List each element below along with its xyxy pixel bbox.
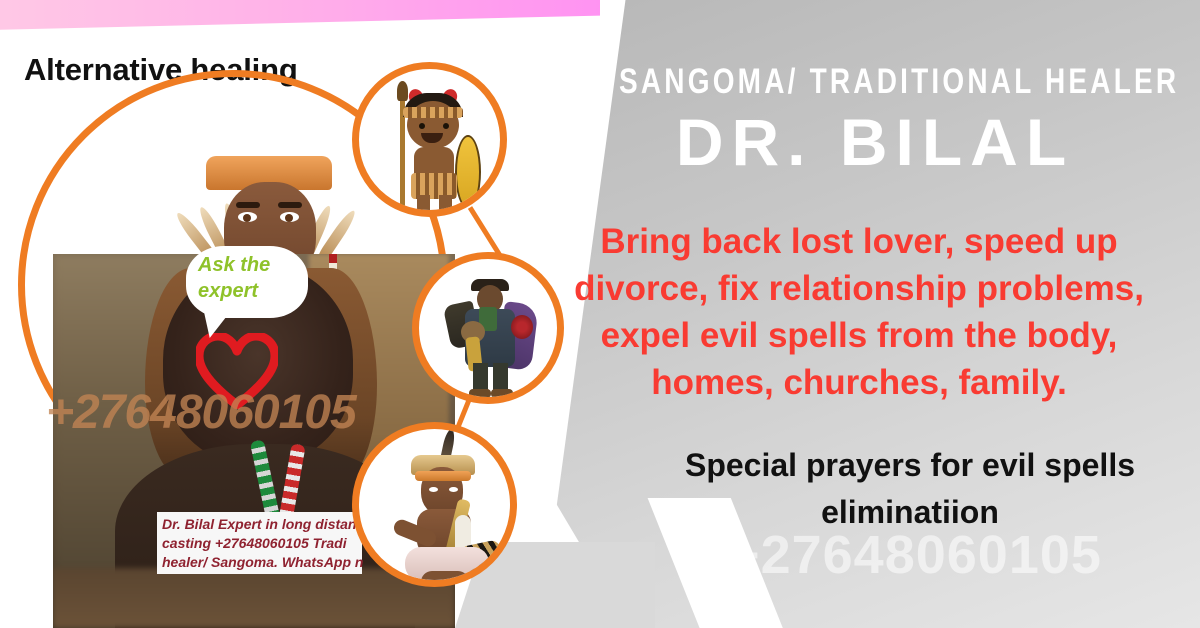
- headline-kicker: SANGOMA/ TRADITIONAL HEALER: [619, 62, 1131, 102]
- panel-phone-watermark: +27648060105: [630, 524, 1200, 586]
- circle-badge-dancer: [352, 422, 517, 587]
- poster-canvas: Alternative healing: [0, 0, 1200, 628]
- photo-caption-text: Dr. Bilal Expert in long distan casting …: [162, 515, 372, 572]
- circle-badge-warrior: [352, 62, 507, 217]
- caption-line-2: casting +27648060105 Tradi: [162, 534, 372, 553]
- zulu-warrior-icon: [359, 69, 500, 210]
- crouching-dancer-icon: [359, 429, 510, 580]
- special-prayers-text: Special prayers for evil spells eliminat…: [620, 442, 1200, 536]
- caption-line-3: healer/ Sangoma. WhatsApp n: [162, 553, 372, 572]
- caption-line-1: Dr. Bilal Expert in long distan: [162, 515, 372, 534]
- services-text: Bring back lost lover, speed up divorce,…: [536, 218, 1182, 406]
- top-pink-bar: [0, 0, 600, 30]
- headline-name: DR. BILAL: [555, 104, 1195, 180]
- speech-bubble-label: Ask the expert: [198, 252, 302, 304]
